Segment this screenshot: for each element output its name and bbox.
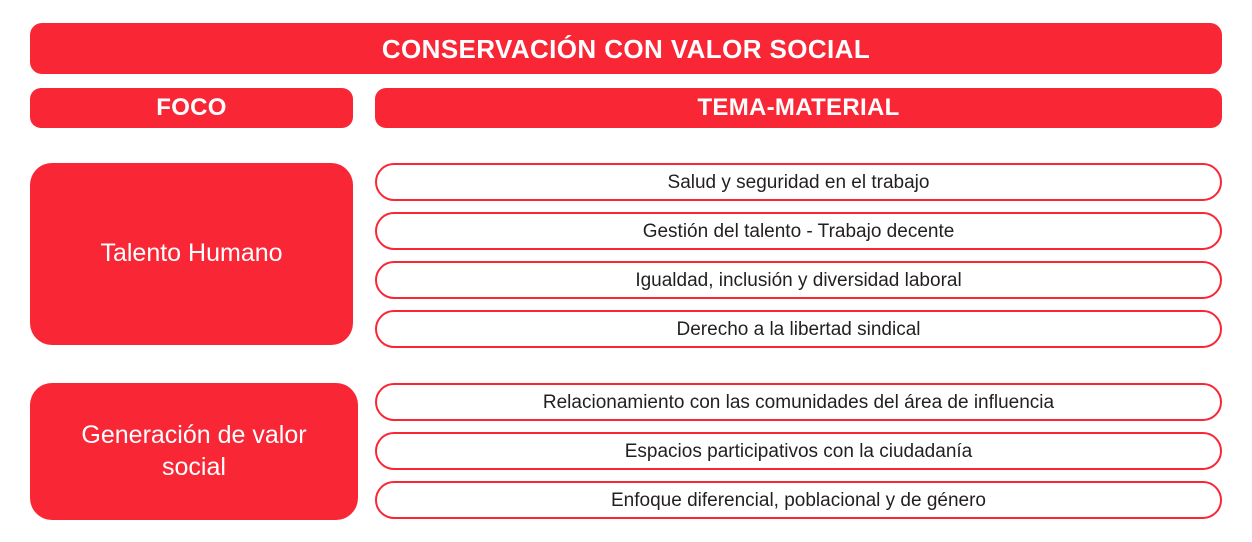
focus-card: Generación de valor social xyxy=(30,383,358,520)
topic-pill: Salud y seguridad en el trabajo xyxy=(375,163,1222,201)
topic-list: Relacionamiento con las comunidades del … xyxy=(375,383,1222,519)
focus-card-label: Talento Humano xyxy=(100,238,282,269)
topic-pill: Relacionamiento con las comunidades del … xyxy=(375,383,1222,421)
topic-pill: Igualdad, inclusión y diversidad laboral xyxy=(375,261,1222,299)
topic-list: Salud y seguridad en el trabajo Gestión … xyxy=(375,163,1222,348)
topic-label: Igualdad, inclusión y diversidad laboral xyxy=(635,271,961,290)
topic-label: Gestión del talento - Trabajo decente xyxy=(643,222,955,241)
materiality-matrix-page: CONSERVACIÓN CON VALOR SOCIAL FOCO TEMA-… xyxy=(0,0,1252,542)
topic-pill: Gestión del talento - Trabajo decente xyxy=(375,212,1222,250)
topic-label: Derecho a la libertad sindical xyxy=(677,320,921,339)
topic-label: Espacios participativos con la ciudadaní… xyxy=(625,442,972,461)
topic-pill: Derecho a la libertad sindical xyxy=(375,310,1222,348)
topic-label: Relacionamiento con las comunidades del … xyxy=(543,393,1054,412)
topic-pill: Espacios participativos con la ciudadaní… xyxy=(375,432,1222,470)
matrix-body: Talento Humano Salud y seguridad en el t… xyxy=(0,0,1252,542)
topic-pill: Enfoque diferencial, poblacional y de gé… xyxy=(375,481,1222,519)
focus-card-label: Generación de valor social xyxy=(48,420,340,483)
topic-label: Salud y seguridad en el trabajo xyxy=(668,173,930,192)
topic-label: Enfoque diferencial, poblacional y de gé… xyxy=(611,491,986,510)
focus-card: Talento Humano xyxy=(30,163,353,345)
